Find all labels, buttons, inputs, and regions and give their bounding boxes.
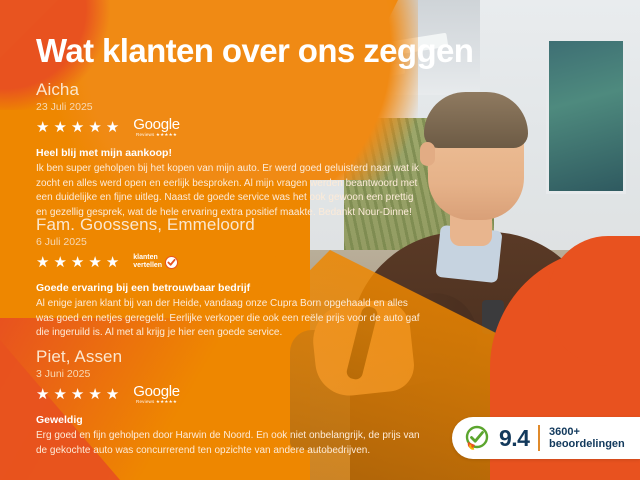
testimonial-banner: VDH Wat klanten over ons zeggen Aicha 23… xyxy=(0,0,640,480)
rating-count-block: 3600+ beoordelingen xyxy=(549,426,625,450)
review-date: 23 Juli 2025 xyxy=(36,101,426,114)
review-title: Geweldig xyxy=(36,413,426,427)
star-icon: ★ xyxy=(106,255,119,270)
rating-count-label: beoordelingen xyxy=(549,438,625,450)
star-icon: ★ xyxy=(53,120,66,135)
star-icon: ★ xyxy=(106,387,119,402)
star-icon: ★ xyxy=(36,387,49,402)
check-shield-icon xyxy=(165,256,178,269)
rating-badge[interactable]: 9.4 3600+ beoordelingen xyxy=(452,417,640,459)
rating-row: ★ ★ ★ ★ ★ Google Reviews ★★★★★ xyxy=(36,117,426,137)
kv-line1: klanten xyxy=(133,254,162,262)
star-icon: ★ xyxy=(88,255,101,270)
google-reviews-sublabel: Reviews ★★★★★ xyxy=(136,400,177,405)
reviewer-name: Aicha xyxy=(36,80,426,100)
rating-score: 9.4 xyxy=(499,427,529,450)
star-icon: ★ xyxy=(36,255,49,270)
star-rating: ★ ★ ★ ★ ★ xyxy=(36,120,119,135)
star-rating: ★ ★ ★ ★ ★ xyxy=(36,255,119,270)
rating-count: 3600+ xyxy=(549,426,625,438)
google-wordmark: Google xyxy=(133,117,180,132)
star-icon: ★ xyxy=(88,387,101,402)
star-icon: ★ xyxy=(36,120,49,135)
klantenvertellen-logo: klanten vertellen xyxy=(133,254,178,270)
review-card-1: Aicha 23 Juli 2025 ★ ★ ★ ★ ★ Google Revi… xyxy=(36,80,426,220)
google-logo: Google Reviews ★★★★★ xyxy=(133,117,180,138)
star-icon: ★ xyxy=(53,387,66,402)
review-card-2: Fam. Goossens, Emmeloord 6 Juli 2025 ★ ★… xyxy=(36,215,426,341)
rating-row: ★ ★ ★ ★ ★ Google Reviews ★★★★★ xyxy=(36,384,426,404)
kv-line2: vertellen xyxy=(133,262,162,270)
star-icon: ★ xyxy=(71,255,84,270)
badge-divider xyxy=(538,425,540,451)
star-icon: ★ xyxy=(88,120,101,135)
star-icon: ★ xyxy=(71,387,84,402)
review-date: 6 Juli 2025 xyxy=(36,236,426,249)
review-title: Heel blij met mijn aankoop! xyxy=(36,146,426,160)
star-icon: ★ xyxy=(71,120,84,135)
page-title: Wat klanten over ons zeggen xyxy=(36,32,473,70)
reviewer-name: Fam. Goossens, Emmeloord xyxy=(36,215,426,235)
review-date: 3 Juni 2025 xyxy=(36,368,426,381)
google-logo: Google Reviews ★★★★★ xyxy=(133,384,180,405)
review-body: Erg goed en fijn geholpen door Harwin de… xyxy=(36,429,426,458)
star-icon: ★ xyxy=(53,255,66,270)
klantenvertellen-wordmark: klanten vertellen xyxy=(133,254,162,270)
content-layer: Wat klanten over ons zeggen Aicha 23 Jul… xyxy=(0,0,640,480)
review-body: Ik ben super geholpen bij het kopen van … xyxy=(36,162,426,220)
star-icon: ★ xyxy=(106,120,119,135)
klantenvertellen-shield-icon xyxy=(464,425,490,451)
google-reviews-sublabel: Reviews ★★★★★ xyxy=(136,133,177,138)
review-title: Goede ervaring bij een betrouwbaar bedri… xyxy=(36,281,426,295)
google-wordmark: Google xyxy=(133,384,180,399)
review-body: Al enige jaren klant bij van der Heide, … xyxy=(36,297,426,341)
review-card-3: Piet, Assen 3 Juni 2025 ★ ★ ★ ★ ★ Google… xyxy=(36,347,426,458)
star-rating: ★ ★ ★ ★ ★ xyxy=(36,387,119,402)
rating-row: ★ ★ ★ ★ ★ klanten vertellen xyxy=(36,252,426,272)
reviewer-name: Piet, Assen xyxy=(36,347,426,367)
